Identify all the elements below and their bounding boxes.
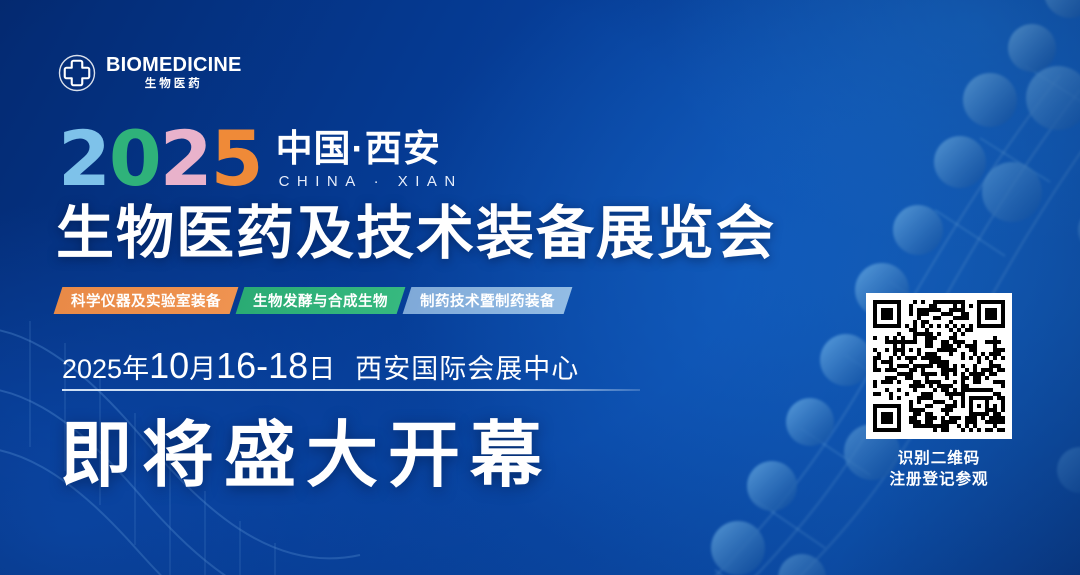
category-tag-instruments-label: 科学仪器及实验室装备 [58, 290, 234, 311]
event-headline: 即将盛大开幕 [60, 417, 552, 496]
horizontal-divider [62, 389, 640, 391]
qr-caption-line-1: 识别二维码 [866, 448, 1012, 469]
event-year-prefix: 2025年 [62, 347, 149, 386]
logo-wordmark: BIOMEDICINE 生物医药 [106, 55, 242, 91]
qr-code-caption: 识别二维码 注册登记参观 [866, 448, 1012, 491]
event-main-title: 生物医药及技术装备展览会 [56, 203, 776, 264]
qr-code-canvas [873, 300, 1005, 432]
event-days: 16-18 [216, 345, 308, 387]
qr-code-image[interactable] [866, 293, 1012, 439]
category-tag-fermentation: 生物发酵与合成生物 [236, 287, 406, 314]
category-tag-list: 科学仪器及实验室装备 生物发酵与合成生物 制药技术暨制药装备 [58, 287, 574, 314]
city-english-label: CHINA · XIAN [279, 174, 463, 189]
medical-cross-circle-icon [56, 52, 98, 94]
qr-code-block: 识别二维码 注册登记参观 [866, 293, 1012, 491]
year-digit-3: 2 [160, 126, 211, 191]
event-month-label: 月 [189, 347, 216, 386]
exhibition-promo-banner: BIOMEDICINE 生物医药 2 0 2 5 中国·西安 CHINA · X… [0, 0, 1080, 575]
event-venue: 西安国际会展中心 [355, 347, 579, 386]
city-block: 中国·西安 CHINA · XIAN [276, 130, 463, 191]
logo-english-text: BIOMEDICINE [106, 55, 242, 75]
brand-logo: BIOMEDICINE 生物医药 [56, 52, 242, 94]
year-digit-4: 5 [211, 126, 262, 191]
logo-chinese-text: 生物医药 [145, 79, 203, 91]
event-date-venue-line: 2025年 10 月 16-18 日 西安国际会展中心 [62, 345, 579, 387]
year-city-row: 2 0 2 5 中国·西安 CHINA · XIAN [58, 126, 463, 191]
city-chinese-label: 中国·西安 [276, 130, 463, 167]
qr-caption-line-2: 注册登记参观 [866, 469, 1012, 490]
category-tag-pharma: 制药技术暨制药装备 [403, 287, 573, 314]
year-digit-1: 2 [58, 126, 109, 191]
event-day-label: 日 [308, 347, 335, 386]
category-tag-fermentation-label: 生物发酵与合成生物 [240, 290, 401, 311]
year-digit-2: 0 [109, 126, 160, 191]
category-tag-instruments: 科学仪器及实验室装备 [54, 287, 239, 314]
category-tag-pharma-label: 制药技术暨制药装备 [407, 290, 568, 311]
event-month-number: 10 [149, 345, 189, 387]
